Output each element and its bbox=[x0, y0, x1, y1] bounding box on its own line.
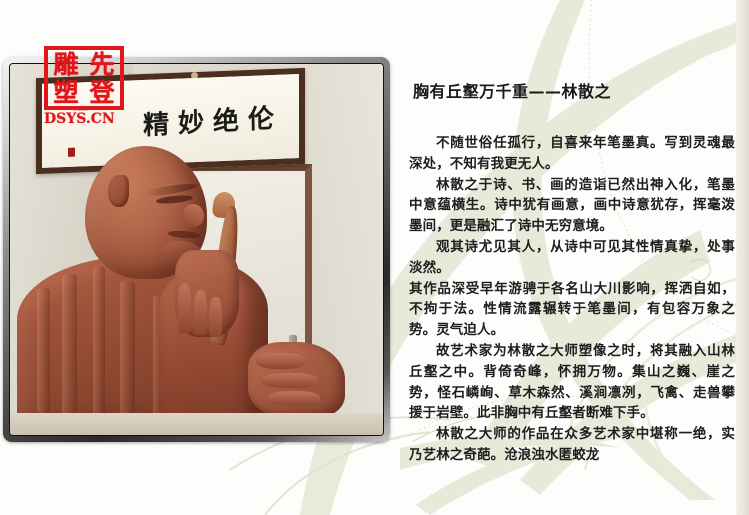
calligraphy-text: 精妙绝伦 bbox=[143, 97, 284, 142]
bust-ear bbox=[108, 175, 129, 207]
seal-char-1: 雕 bbox=[48, 50, 84, 78]
watermark-url: DSYS.CN bbox=[44, 111, 130, 127]
seal-box: 雕 先 塑 登 bbox=[44, 46, 124, 110]
right-edge-stripe bbox=[737, 0, 749, 515]
article-paragraph: 林散之于诗、书、画的造诣已然出神入化，笔墨中意蕴横生。诗中犹有画意，画中诗意犹存… bbox=[409, 175, 735, 237]
floor bbox=[10, 413, 383, 435]
seal-char-4: 登 bbox=[84, 78, 120, 106]
article-paragraph: 故艺术家为林散之大师塑像之时，将其融入山林丘壑之中。背倚奇峰，怀拥万物。集山之巍… bbox=[409, 341, 735, 424]
article-body: 不随世俗任孤行，自喜来年笔墨真。写到灵魂最深处，不知有我更无人。林散之于诗、书、… bbox=[409, 133, 735, 466]
article: 胸有丘壑万千重——林散之 不随世俗任孤行，自喜来年笔墨真。写到灵魂最深处，不知有… bbox=[409, 78, 735, 466]
seal-char-3: 塑 bbox=[48, 78, 84, 106]
article-paragraph: 其作品深受早年游骋于各名山大川影响，挥洒自如，不拘于法。性情流露辗转于笔墨间，有… bbox=[409, 279, 735, 341]
seal-char-2: 先 bbox=[84, 50, 120, 78]
watermark-seal: 雕 先 塑 登 DSYS.CN bbox=[44, 46, 130, 127]
right-stripe-highlight bbox=[736, 0, 737, 515]
bust-nose bbox=[184, 204, 205, 227]
article-paragraph: 林散之大师的作品在众多艺术家中堪称一绝，实乃艺林之奇葩。沧浪浊水匿蛟龙 bbox=[409, 424, 735, 466]
clay-bust-sculpture bbox=[17, 146, 338, 435]
article-paragraph: 观其诗尤见其人，从诗中可见其性情真挚，处事淡然。 bbox=[409, 237, 735, 279]
bust-right-hand bbox=[175, 250, 239, 337]
bust-eye bbox=[155, 194, 192, 204]
bust-left-hand bbox=[248, 342, 344, 417]
article-paragraph: 不随世俗任孤行，自喜来年笔墨真。写到灵魂最深处，不知有我更无人。 bbox=[409, 133, 735, 175]
bust-mouth bbox=[168, 230, 200, 239]
page-title: 胸有丘壑万千重——林散之 bbox=[413, 78, 735, 102]
page-root: 精妙绝伦 林散之 bbox=[0, 0, 749, 515]
